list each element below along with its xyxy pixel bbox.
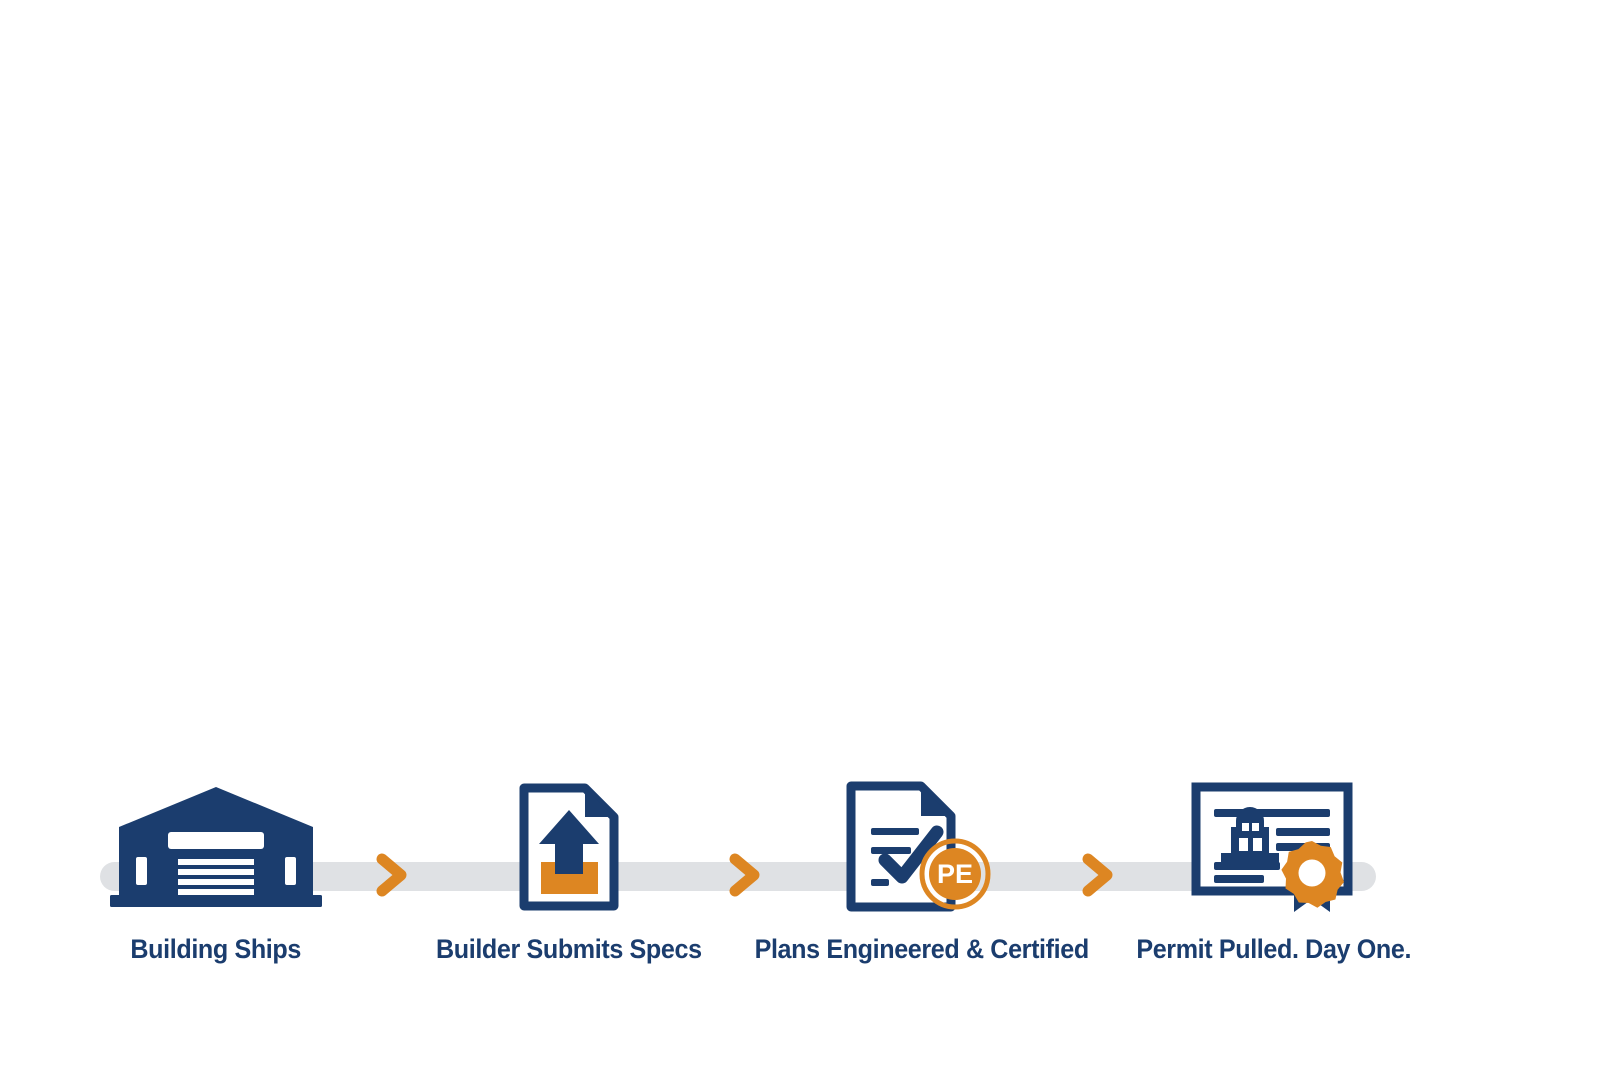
document-upload-icon [517, 782, 621, 912]
process-step-label: Builder Submits Specs [436, 934, 702, 965]
warehouse-building-icon-box [110, 780, 322, 914]
process-step-label: Plans Engineered & Certified [754, 934, 1088, 965]
process-step-label: Permit Pulled. Day One. [1137, 934, 1412, 965]
certificate-seal-icon [1190, 781, 1358, 913]
process-step-label: Building Ships [131, 934, 302, 965]
pe-stamp-text: PE [937, 859, 973, 889]
process-step-row: Building Ships Buil [100, 780, 1390, 980]
chevron-right-icon [1081, 853, 1115, 897]
process-step-permit-pulled-day-one[interactable]: Permit Pulled. Day One. [1158, 780, 1390, 965]
document-upload-icon-box [517, 780, 621, 914]
connector-chevron-1 [370, 808, 414, 942]
process-flow-diagram: Building Ships Buil [0, 0, 1600, 1067]
checklist-pe-stamp-icon: PE [845, 781, 997, 913]
connector-chevron-3 [1076, 808, 1120, 942]
process-step-plans-engineered-certified[interactable]: PE Plans Engineered & Certified [805, 780, 1037, 965]
chevron-right-icon [375, 853, 409, 897]
process-step-building-ships[interactable]: Building Ships [100, 780, 332, 965]
checklist-pe-stamp-icon-box: PE [845, 780, 997, 914]
connector-chevron-2 [723, 808, 767, 942]
process-step-builder-submits-specs[interactable]: Builder Submits Specs [453, 780, 685, 965]
chevron-right-icon [728, 853, 762, 897]
certificate-seal-icon-box [1190, 780, 1358, 914]
warehouse-building-icon [110, 785, 322, 909]
